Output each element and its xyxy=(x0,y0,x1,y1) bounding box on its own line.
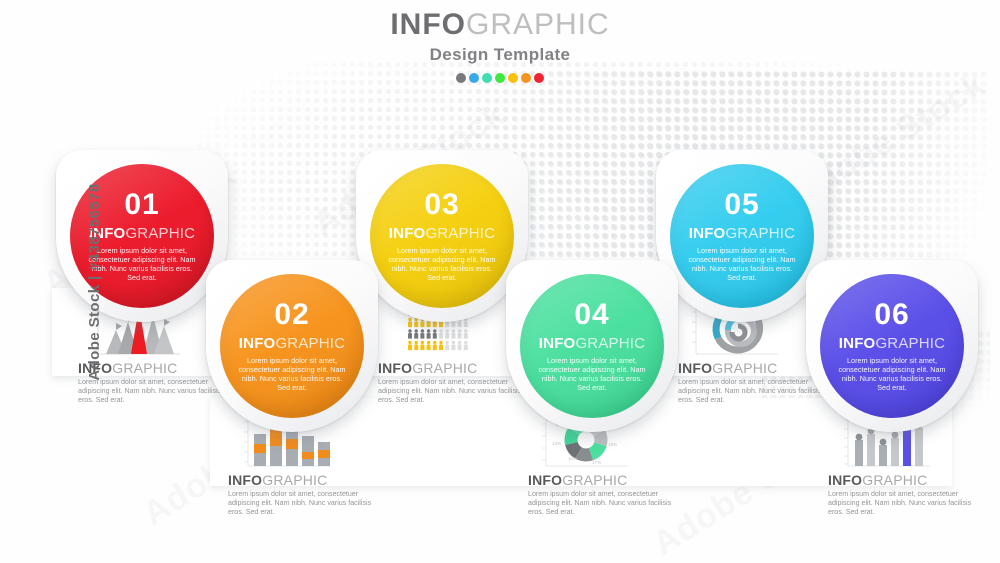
cell-label-bold: INFO xyxy=(228,472,262,488)
cell-label-light: GRAPHIC xyxy=(112,360,177,376)
cell-label-light: GRAPHIC xyxy=(862,472,927,488)
cell-label-light: GRAPHIC xyxy=(262,472,327,488)
svg-text:13%: 13% xyxy=(552,441,561,446)
step-card-2[interactable]: 02 INFOGRAPHIC Lorem ipsum dolor sit ame… xyxy=(206,260,378,432)
svg-text:10%: 10% xyxy=(568,456,577,461)
step-card-1[interactable]: 01 INFOGRAPHIC Lorem ipsum dolor sit ame… xyxy=(56,150,228,322)
legend-dot-2 xyxy=(469,73,479,83)
card-body-text: Lorem ipsum dolor sit amet, consectetuer… xyxy=(386,246,498,282)
legend-dot-6 xyxy=(521,73,531,83)
svg-text:15%: 15% xyxy=(608,442,617,447)
svg-text:17%: 17% xyxy=(592,460,601,465)
card-label-bold: INFO xyxy=(539,335,576,352)
card-disc: 02 INFOGRAPHIC Lorem ipsum dolor sit ame… xyxy=(220,274,364,418)
step-card-3[interactable]: 03 INFOGRAPHIC Lorem ipsum dolor sit ame… xyxy=(356,150,528,322)
card-label-light: GRAPHIC xyxy=(725,225,795,242)
card-number: 03 xyxy=(370,190,514,220)
card-disc: 04 INFOGRAPHIC Lorem ipsum dolor sit ame… xyxy=(520,274,664,418)
card-number: 02 xyxy=(220,300,364,330)
card-number: 04 xyxy=(520,300,664,330)
step-card-6[interactable]: 06 INFOGRAPHIC Lorem ipsum dolor sit ame… xyxy=(806,260,978,432)
color-legend-dots xyxy=(0,73,1000,83)
legend-dot-5 xyxy=(508,73,518,83)
card-body-text: Lorem ipsum dolor sit amet, consectetuer… xyxy=(686,246,798,282)
card-disc: 05 INFOGRAPHIC Lorem ipsum dolor sit ame… xyxy=(670,164,814,308)
title-bold: INFO xyxy=(390,8,466,41)
step-card-5[interactable]: 05 INFOGRAPHIC Lorem ipsum dolor sit ame… xyxy=(656,150,828,322)
page-title: INFOGRAPHIC Design Template xyxy=(0,8,1000,83)
cell-body-text: Lorem ipsum dolor sit amet, consectetuer… xyxy=(528,490,678,517)
card-number: 05 xyxy=(670,190,814,220)
cell-body-text: Lorem ipsum dolor sit amet, consectetuer… xyxy=(228,490,378,517)
card-body-text: Lorem ipsum dolor sit amet, consectetuer… xyxy=(536,356,648,392)
card-label-bold: INFO xyxy=(239,335,276,352)
page-subtitle: Design Template xyxy=(0,45,1000,65)
card-label-bold: INFO xyxy=(839,335,876,352)
legend-dot-1 xyxy=(456,73,466,83)
cell-label-light: GRAPHIC xyxy=(412,360,477,376)
card-body-text: Lorem ipsum dolor sit amet, consectetuer… xyxy=(836,356,948,392)
step-card-4[interactable]: 04 INFOGRAPHIC Lorem ipsum dolor sit ame… xyxy=(506,260,678,432)
cell-label-light: GRAPHIC xyxy=(712,360,777,376)
card-label-light: GRAPHIC xyxy=(575,335,645,352)
cell-label-bold: INFO xyxy=(378,360,412,376)
cell-body-text: Lorem ipsum dolor sit amet, consectetuer… xyxy=(828,490,978,517)
cell-label-bold: INFO xyxy=(828,472,862,488)
cell-label-bold: INFO xyxy=(528,472,562,488)
title-light: GRAPHIC xyxy=(466,8,610,41)
card-body-text: Lorem ipsum dolor sit amet, consectetuer… xyxy=(236,356,348,392)
card-label-light: GRAPHIC xyxy=(125,225,195,242)
stock-credit-watermark: Adobe Stock | #438756578 xyxy=(86,183,103,380)
card-number: 06 xyxy=(820,300,964,330)
legend-dot-4 xyxy=(495,73,505,83)
infographic-canvas: Adobe Stock Adobe Stock Adobe Stock Adob… xyxy=(0,0,1000,563)
legend-dot-7 xyxy=(534,73,544,83)
card-label-light: GRAPHIC xyxy=(275,335,345,352)
card-label-light: GRAPHIC xyxy=(425,225,495,242)
legend-dot-3 xyxy=(482,73,492,83)
card-label-bold: INFO xyxy=(389,225,426,242)
card-label-bold: INFO xyxy=(689,225,726,242)
cell-label-light: GRAPHIC xyxy=(562,472,627,488)
cell-label-bold: INFO xyxy=(678,360,712,376)
card-disc: 03 INFOGRAPHIC Lorem ipsum dolor sit ame… xyxy=(370,164,514,308)
card-label-light: GRAPHIC xyxy=(875,335,945,352)
card-disc: 06 INFOGRAPHIC Lorem ipsum dolor sit ame… xyxy=(820,274,964,418)
